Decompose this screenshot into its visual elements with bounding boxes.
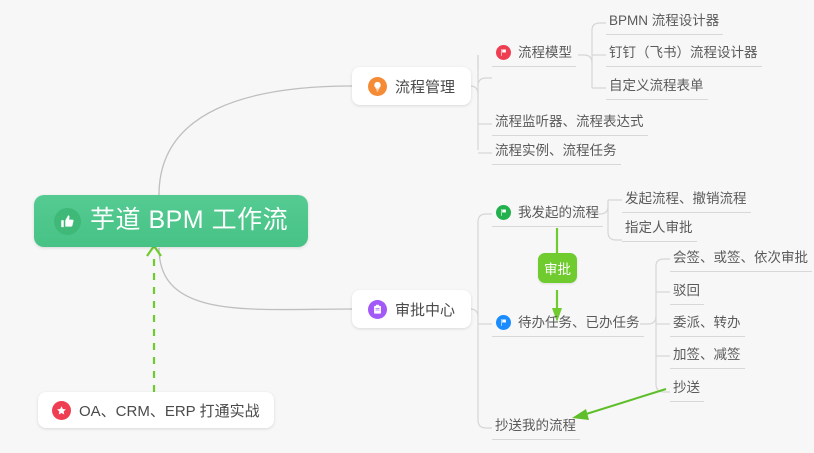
branch-label: 审批中心 [395,299,455,320]
floating-node-integration[interactable]: OA、CRM、ERP 打通实战 [38,392,274,428]
leaf-label: 抄送我的流程 [495,414,576,434]
leaf-node-reject[interactable]: 驳回 [670,279,704,305]
root-label: 芋道 BPM 工作流 [90,208,288,235]
leaf-label: 流程模型 [518,41,572,61]
leaf-label: 我发起的流程 [518,201,599,221]
leaf-node-process-model[interactable]: 流程模型 [492,41,576,67]
leaf-label: 委派、转办 [673,311,741,331]
flag-icon [496,45,511,60]
approval-badge-label: 审批 [544,258,571,278]
lightbulb-icon [368,77,387,96]
leaf-node-start-cancel[interactable]: 发起流程、撤销流程 [622,187,751,213]
approval-badge[interactable]: 审批 [538,253,577,283]
branch-node-approval-center[interactable]: 审批中心 [352,290,471,328]
leaf-node-cc[interactable]: 抄送 [670,376,704,402]
leaf-node-custom-form[interactable]: 自定义流程表单 [606,74,708,100]
leaf-node-delegate-transfer[interactable]: 委派、转办 [670,311,745,337]
leaf-node-bpmn-designer[interactable]: BPMN 流程设计器 [606,9,723,35]
mindmap-canvas: 芋道 BPM 工作流 流程管理 流程模型 BPMN 流程设计器 钉钉（飞书）流程… [0,0,814,453]
leaf-label: 加签、减签 [673,343,741,363]
star-icon [52,401,71,420]
root-node[interactable]: 芋道 BPM 工作流 [34,195,308,247]
floating-node-label: OA、CRM、ERP 打通实战 [79,400,260,421]
leaf-node-instance-task[interactable]: 流程实例、流程任务 [492,139,621,165]
leaf-node-dingtalk-feishu-designer[interactable]: 钉钉（飞书）流程设计器 [606,41,762,67]
leaf-label: 待办任务、已办任务 [518,311,640,331]
thumbs-up-icon [54,208,81,235]
flag-icon [496,205,511,220]
branch-label: 流程管理 [395,76,455,97]
leaf-label: 指定人审批 [625,216,693,236]
leaf-label: 流程实例、流程任务 [495,139,617,159]
leaf-node-add-remove-sign[interactable]: 加签、减签 [670,343,745,369]
leaf-label: 会签、或签、依次审批 [673,246,808,266]
leaf-label: 流程监听器、流程表达式 [495,110,644,130]
leaf-label: 抄送 [673,376,700,396]
cc-arrow [583,389,666,415]
leaf-label: 自定义流程表单 [609,74,704,94]
branch-node-process-management[interactable]: 流程管理 [352,67,471,105]
leaf-node-listener-expression[interactable]: 流程监听器、流程表达式 [492,110,648,136]
leaf-label: 驳回 [673,279,700,299]
leaf-node-todo-done-tasks[interactable]: 待办任务、已办任务 [492,311,644,337]
clipboard-icon [368,300,387,319]
leaf-node-countersign[interactable]: 会签、或签、依次审批 [670,246,812,272]
leaf-node-cc-to-me[interactable]: 抄送我的流程 [492,414,580,440]
leaf-label: 发起流程、撤销流程 [625,187,747,207]
leaf-node-assignee-approval[interactable]: 指定人审批 [622,216,697,242]
leaf-label: BPMN 流程设计器 [609,9,719,29]
integration-arrowhead-v [147,246,161,256]
leaf-node-my-initiated[interactable]: 我发起的流程 [492,201,603,227]
leaf-label: 钉钉（飞书）流程设计器 [609,41,758,61]
flag-icon [496,315,511,330]
